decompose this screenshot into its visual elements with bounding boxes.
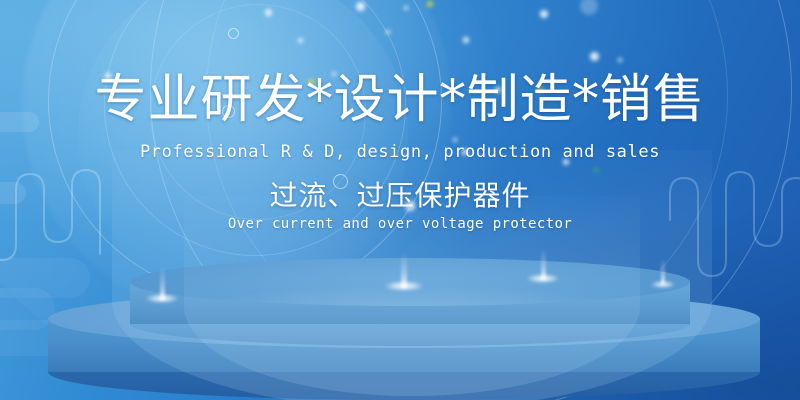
light-beam-pool <box>385 281 423 291</box>
particle-dot <box>563 159 569 165</box>
decor-blob-top-left <box>0 112 39 132</box>
particle-ring-dot <box>222 105 235 118</box>
particle-dot <box>405 201 415 211</box>
light-beam-pool <box>527 274 559 283</box>
particle-ring-dot <box>228 28 239 39</box>
light-beam-pool <box>651 281 675 288</box>
particle-dot <box>495 87 500 92</box>
particle-dot <box>105 73 110 78</box>
particle-dot <box>590 52 599 61</box>
particle-dot <box>298 38 303 43</box>
particle-dot <box>308 79 314 85</box>
particle-dot <box>356 2 365 11</box>
particle-dot <box>463 37 469 43</box>
particle-dot <box>462 149 468 155</box>
particle-dot <box>332 72 336 76</box>
light-beam-pool <box>146 294 178 303</box>
particle-dot <box>265 9 272 16</box>
decor-blob-mid-left <box>0 182 26 204</box>
particle-dot <box>540 10 548 18</box>
promo-banner: 专业研发*设计*制造*销售 Professional R & D, design… <box>0 0 800 400</box>
particle-ring-dot <box>333 174 348 189</box>
decor-ring-3 <box>150 4 366 220</box>
